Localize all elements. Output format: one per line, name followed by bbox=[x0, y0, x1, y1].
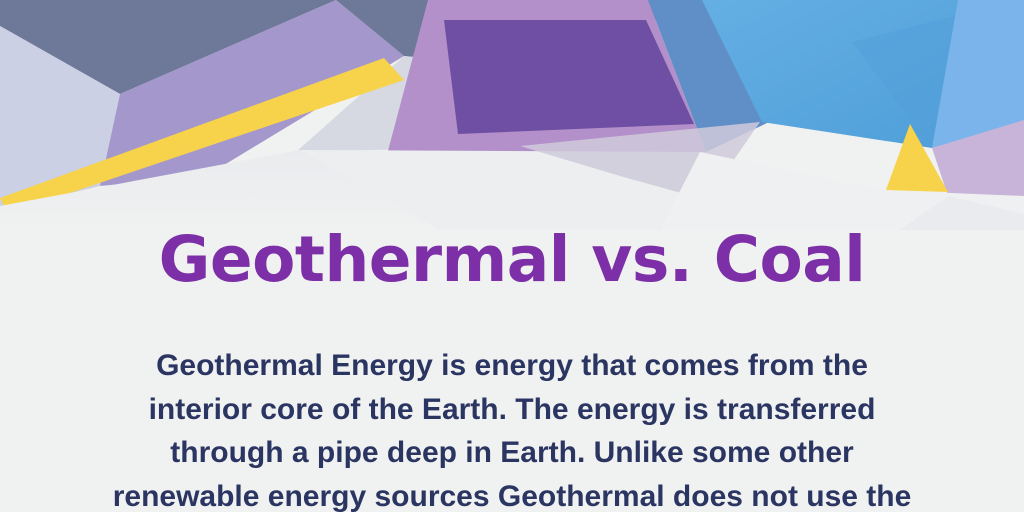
infographic-page: Geothermal vs. Coal Geothermal Energy is… bbox=[0, 0, 1024, 512]
body-line-3: through a pipe deep in Earth. Unlike som… bbox=[112, 431, 912, 475]
body-paragraph: Geothermal Energy is energy that comes f… bbox=[112, 344, 912, 512]
page-title: Geothermal vs. Coal bbox=[0, 224, 1024, 296]
body-line-4: renewable energy sources Geothermal does… bbox=[112, 475, 912, 512]
body-line-2: interior core of the Earth. The energy i… bbox=[112, 388, 912, 432]
content-area: Geothermal vs. Coal Geothermal Energy is… bbox=[0, 0, 1024, 512]
body-line-1: Geothermal Energy is energy that comes f… bbox=[112, 344, 912, 388]
